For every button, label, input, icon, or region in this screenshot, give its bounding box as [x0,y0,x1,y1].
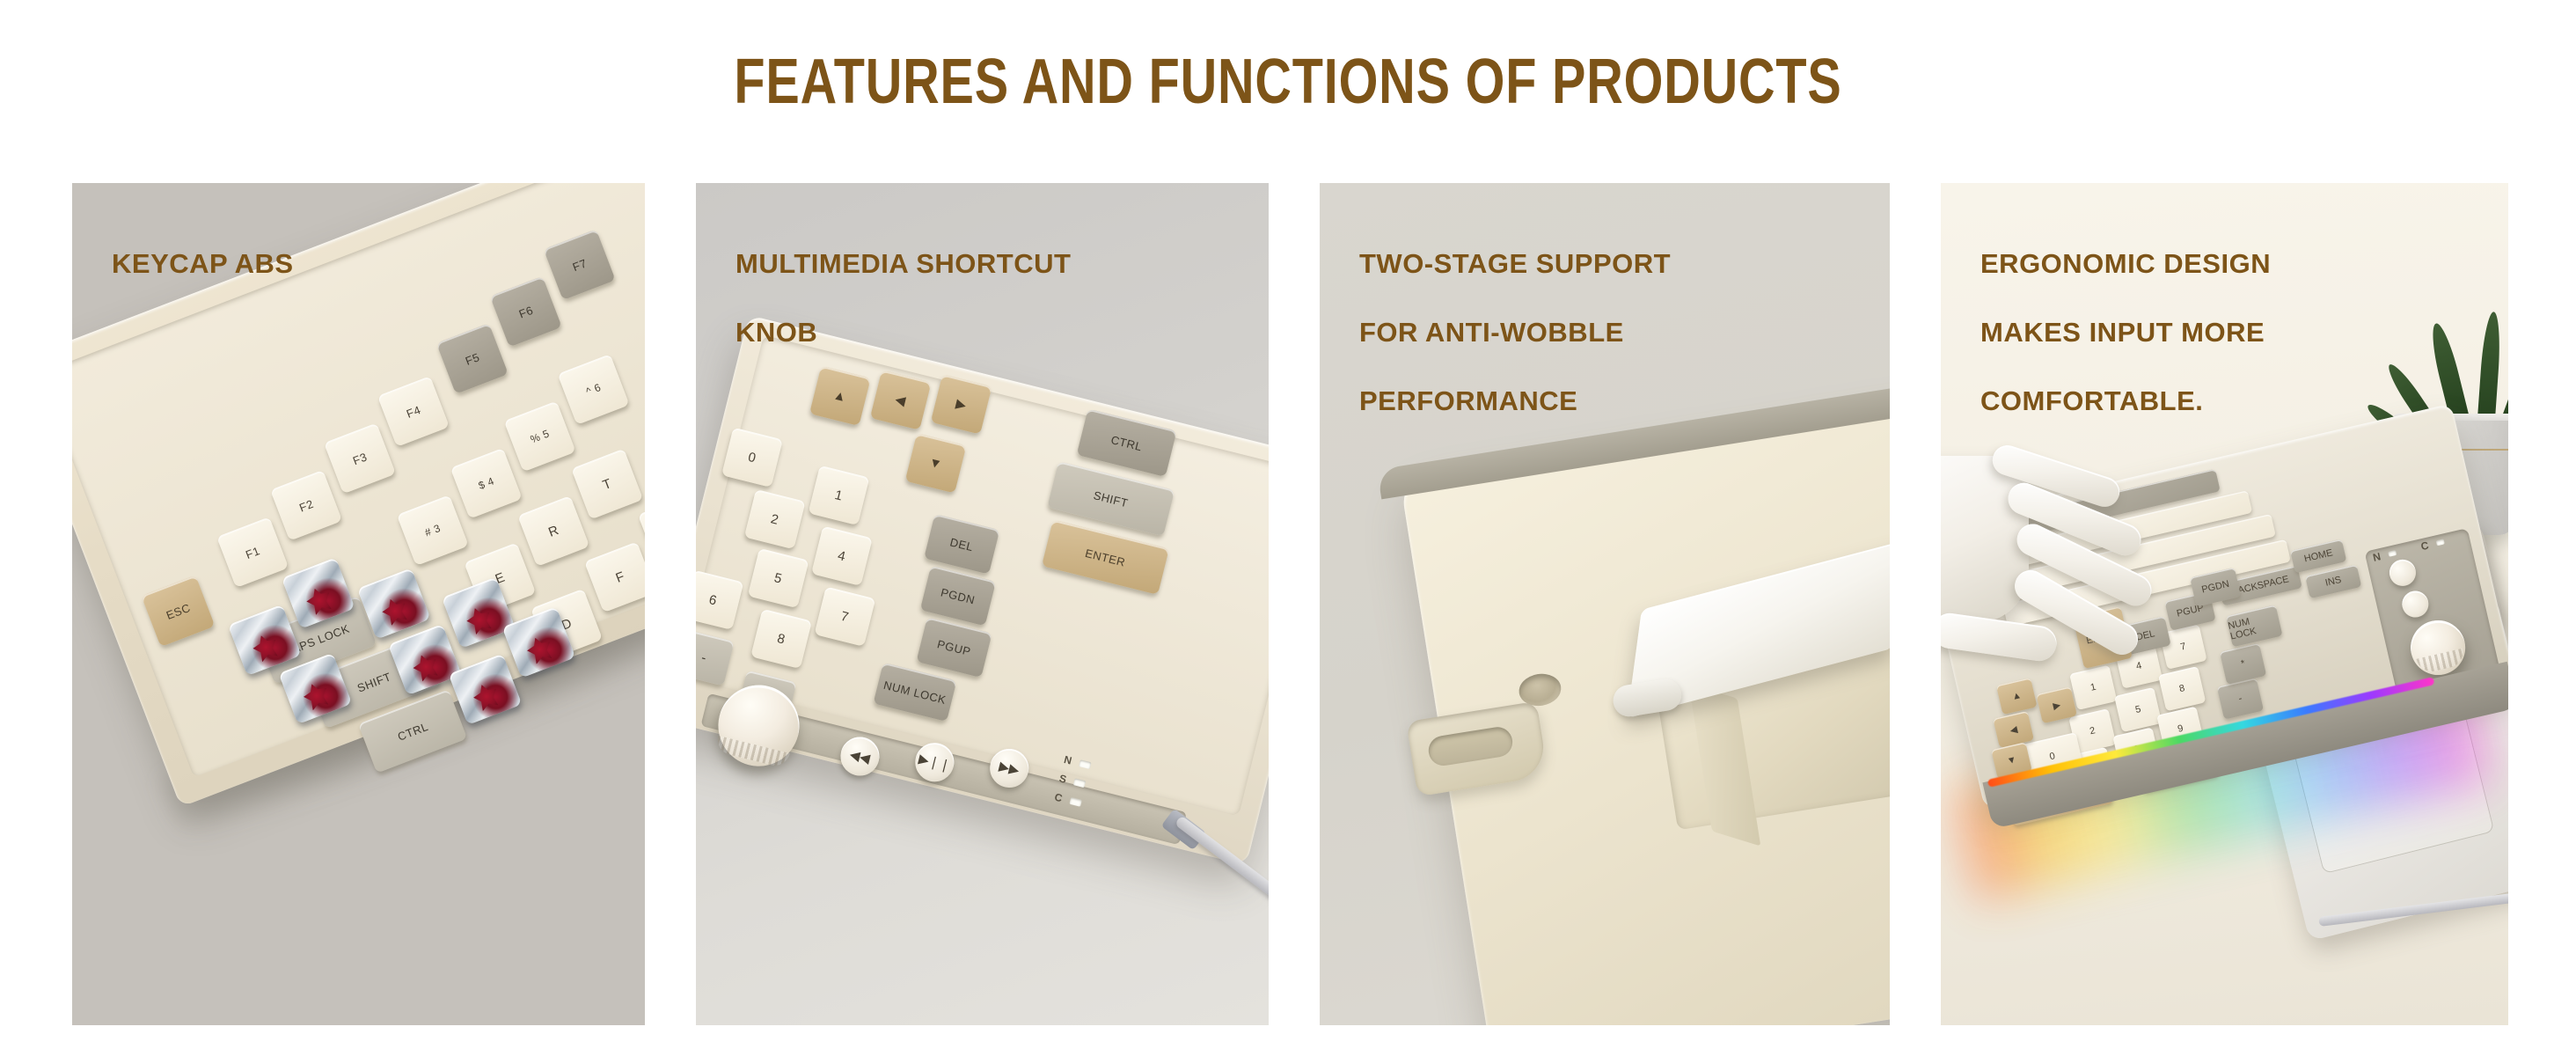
panel-label-line: PERFORMANCE [1359,387,1671,414]
robot-palm [1941,456,2029,623]
indicator-led-dot [1079,759,1092,769]
volume-knob[interactable] [2405,615,2470,680]
keyboard-underside-photo [1399,369,1890,1025]
keyboard-photo-multimedia: ▲ ◀ ▶ ▼ CTRL SHIFT ENTER 0 1 2 4 5 6 7 8… [696,315,1269,1025]
panel-label-two-stage-support: TWO-STAGE SUPPORT FOR ANTI-WOBBLE PERFOR… [1359,223,1671,456]
panel-label-ergonomic-design: ERGONOMIC DESIGN MAKES INPUT MORE COMFOR… [1980,223,2271,456]
indicator-label-n: N [1063,753,1073,767]
play-pause-icon[interactable] [2387,557,2419,589]
robot-thumb [1941,611,2059,663]
panel-label-multimedia-knob: MULTIMEDIA SHORTCUT KNOB [735,223,1071,387]
panel-label-line: ERGONOMIC DESIGN [1980,250,2271,277]
indicator-label-n: N [2372,550,2382,564]
indicator-label-s: S [1058,772,1068,786]
robotic-hand [1941,447,2240,737]
feature-panel-strip: ESC F1 F2 F3 F4 F5 F6 F7 # 3 $ 4 % 5 ^ 6… [72,183,2500,1025]
feature-panel-two-stage-support[interactable]: TWO-STAGE SUPPORT FOR ANTI-WOBBLE PERFOR… [1320,183,1890,1025]
panel-label-line: TWO-STAGE SUPPORT [1359,250,1671,277]
indicator-led-dot [1073,778,1087,788]
panel-label-line: COMFORTABLE. [1980,387,2271,414]
panel-label-line: MAKES INPUT MORE [1980,319,2271,346]
indicator-label-c: C [1053,791,1064,805]
indicator-led-dot [1069,797,1082,807]
panel-label-line: FOR ANTI-WOBBLE [1359,319,1671,346]
indicator-led-dot [2388,550,2397,557]
indicator-led-num: N [2372,546,2397,564]
page-title: FEATURES AND FUNCTIONS OF PRODUCTS [258,46,2318,118]
indicator-led-caps: C [2419,536,2445,554]
feature-panel-multimedia-knob[interactable]: ▲ ◀ ▶ ▼ CTRL SHIFT ENTER 0 1 2 4 5 6 7 8… [696,183,1269,1025]
indicator-label-c: C [2419,539,2430,554]
panel-label-line: MULTIMEDIA SHORTCUT [735,250,1071,277]
panel-label-line: KEYCAP ABS [112,250,294,277]
panel-label-line: KNOB [735,319,1071,346]
indicator-led-dot [2435,539,2444,546]
key-ins: INS [2305,564,2361,598]
panel-label-keycap-abs: KEYCAP ABS [112,223,294,319]
next-track-icon[interactable] [2399,589,2431,620]
feature-panel-keycap-abs[interactable]: ESC F1 F2 F3 F4 F5 F6 F7 # 3 $ 4 % 5 ^ 6… [72,183,645,1025]
feature-panel-ergonomic-design[interactable]: BACKSPACE HOME INS 1 2 3 4 5 6 7 8 9 0 .… [1941,183,2508,1025]
